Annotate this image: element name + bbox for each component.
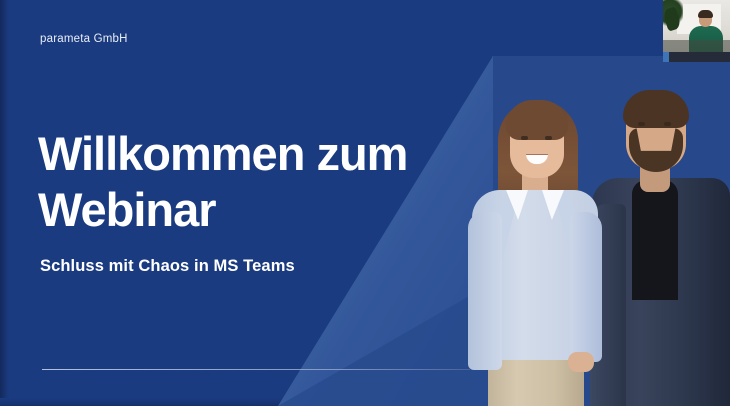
self-view-desk — [663, 40, 730, 52]
woman-left-eye — [521, 136, 528, 140]
slide-subheadline: Schluss mit Chaos in MS Teams — [40, 257, 295, 276]
self-view-person-hair — [698, 10, 713, 18]
man-left-eye — [638, 122, 645, 126]
self-view-video-feed — [663, 0, 730, 52]
woman-right-arm — [570, 212, 602, 362]
woman-hair-front — [506, 100, 568, 140]
webinar-screen-share: parameta GmbH Willkommen zum Webinar Sch… — [0, 0, 730, 406]
self-view-side-accent — [663, 52, 669, 62]
self-view-bottom-bar — [663, 52, 730, 62]
man-hair — [623, 90, 689, 128]
slide-headline-line-2: Webinar — [38, 182, 478, 238]
slide-brand-label: parameta GmbH — [40, 33, 128, 45]
slide-headline-line-1: Willkommen zum — [38, 127, 407, 180]
man-right-eye — [664, 122, 671, 126]
man-black-shirt — [632, 180, 678, 300]
slide-headline: Willkommen zum Webinar — [38, 126, 478, 238]
presenter-photo — [466, 66, 730, 406]
self-view-video-tile[interactable] — [663, 0, 730, 62]
woman-right-hand — [568, 352, 594, 372]
slide-divider-rule — [42, 369, 470, 370]
woman-right-eye — [545, 136, 552, 140]
slide-left-edge-shading — [0, 0, 9, 406]
